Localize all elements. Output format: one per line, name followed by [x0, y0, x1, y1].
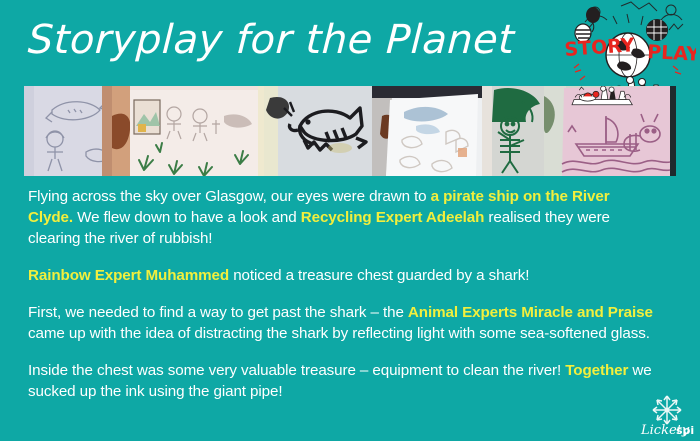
- story-run: noticed a treasure chest guarded by a sh…: [229, 267, 529, 284]
- photo-thumbnail[interactable]: [24, 86, 112, 176]
- photo-thumbnail[interactable]: [482, 86, 544, 176]
- story-run: We flew down to have a look and: [73, 209, 301, 226]
- story-run: Flying across the sky over Glasgow, our …: [28, 188, 431, 205]
- photo-thumbnail[interactable]: [544, 86, 676, 176]
- story-run: came up with the idea of distracting the…: [28, 325, 650, 342]
- story-body: Flying across the sky over Glasgow, our …: [28, 186, 653, 402]
- story-run-highlight: Together: [565, 362, 628, 379]
- lickety-spit-logo: Lickety spit: [640, 393, 694, 439]
- story-paragraph: Rainbow Expert Muhammed noticed a treasu…: [28, 265, 653, 286]
- lickety-wordmark-bold: spit: [676, 424, 694, 437]
- svg-text:PLAY: PLAY: [647, 41, 696, 66]
- story-run-highlight: Rainbow Expert Muhammed: [28, 267, 229, 284]
- page-header: Storyplay for the Planet: [0, 0, 700, 86]
- photo-thumbnail[interactable]: [264, 86, 372, 176]
- page-title: Storyplay for the Planet: [27, 12, 516, 68]
- photo-thumbnail[interactable]: [112, 86, 264, 176]
- story-run: Inside the chest was some very valuable …: [28, 362, 565, 379]
- story-paragraph: Inside the chest was some very valuable …: [28, 360, 653, 402]
- story-paragraph: First, we needed to find a way to get pa…: [28, 302, 653, 344]
- story-run: First, we needed to find a way to get pa…: [28, 304, 408, 321]
- photo-strip: [24, 86, 676, 176]
- story-run-highlight: Animal Experts Miracle and Praise: [408, 304, 653, 321]
- photo-thumbnail[interactable]: [372, 86, 482, 176]
- story-run-highlight: Recycling Expert Adeelah: [301, 209, 485, 226]
- story-paragraph: Flying across the sky over Glasgow, our …: [28, 186, 653, 249]
